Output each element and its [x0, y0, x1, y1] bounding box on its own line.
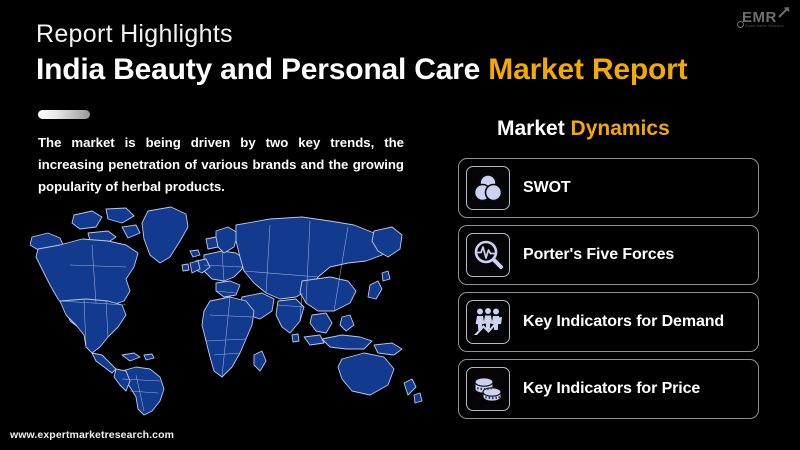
card-key-indicators-demand[interactable]: Key Indicators for Demand	[458, 292, 759, 352]
panel-title-main: Market	[497, 117, 571, 140]
card-porters-five-forces[interactable]: Porter's Five Forces	[458, 225, 759, 285]
world-map	[30, 205, 430, 417]
panel-title-accent: Dynamics	[571, 117, 670, 140]
card-key-indicators-price[interactable]: Key Indicators for Price	[458, 359, 759, 419]
logo-wordmark: EMR	[742, 10, 777, 25]
card-label: Porter's Five Forces	[523, 246, 674, 265]
growth-arrow-icon	[777, 5, 791, 19]
emr-logo: EMR Expert Market Research	[736, 5, 792, 33]
world-map-svg	[30, 205, 430, 417]
panel-title: Market Dynamics	[497, 118, 670, 139]
logo-tagline: Expert Market Research	[745, 24, 784, 28]
title-divider	[38, 110, 90, 119]
page-title-accent: Market Report	[488, 53, 687, 86]
card-swot[interactable]: SWOT	[458, 158, 759, 218]
page-title: India Beauty and Personal Care Market Re…	[36, 54, 687, 86]
magnifier-pulse-icon	[466, 233, 510, 277]
market-dynamics-list: SWOT Porter's Five Forces	[458, 158, 759, 419]
card-label: Key Indicators for Price	[523, 380, 700, 399]
people-growth-arrow-icon	[466, 300, 510, 344]
venn-circles-icon	[466, 166, 510, 210]
card-label: SWOT	[523, 179, 571, 198]
summary-text: The market is being driven by two key tr…	[38, 132, 404, 199]
card-label: Key Indicators for Demand	[523, 313, 724, 332]
coins-stack-icon	[466, 367, 510, 411]
report-eyebrow: Report Highlights	[36, 22, 233, 47]
page-title-main: India Beauty and Personal Care	[36, 53, 488, 86]
footer-url[interactable]: www.expertmarketresearch.com	[10, 429, 174, 441]
